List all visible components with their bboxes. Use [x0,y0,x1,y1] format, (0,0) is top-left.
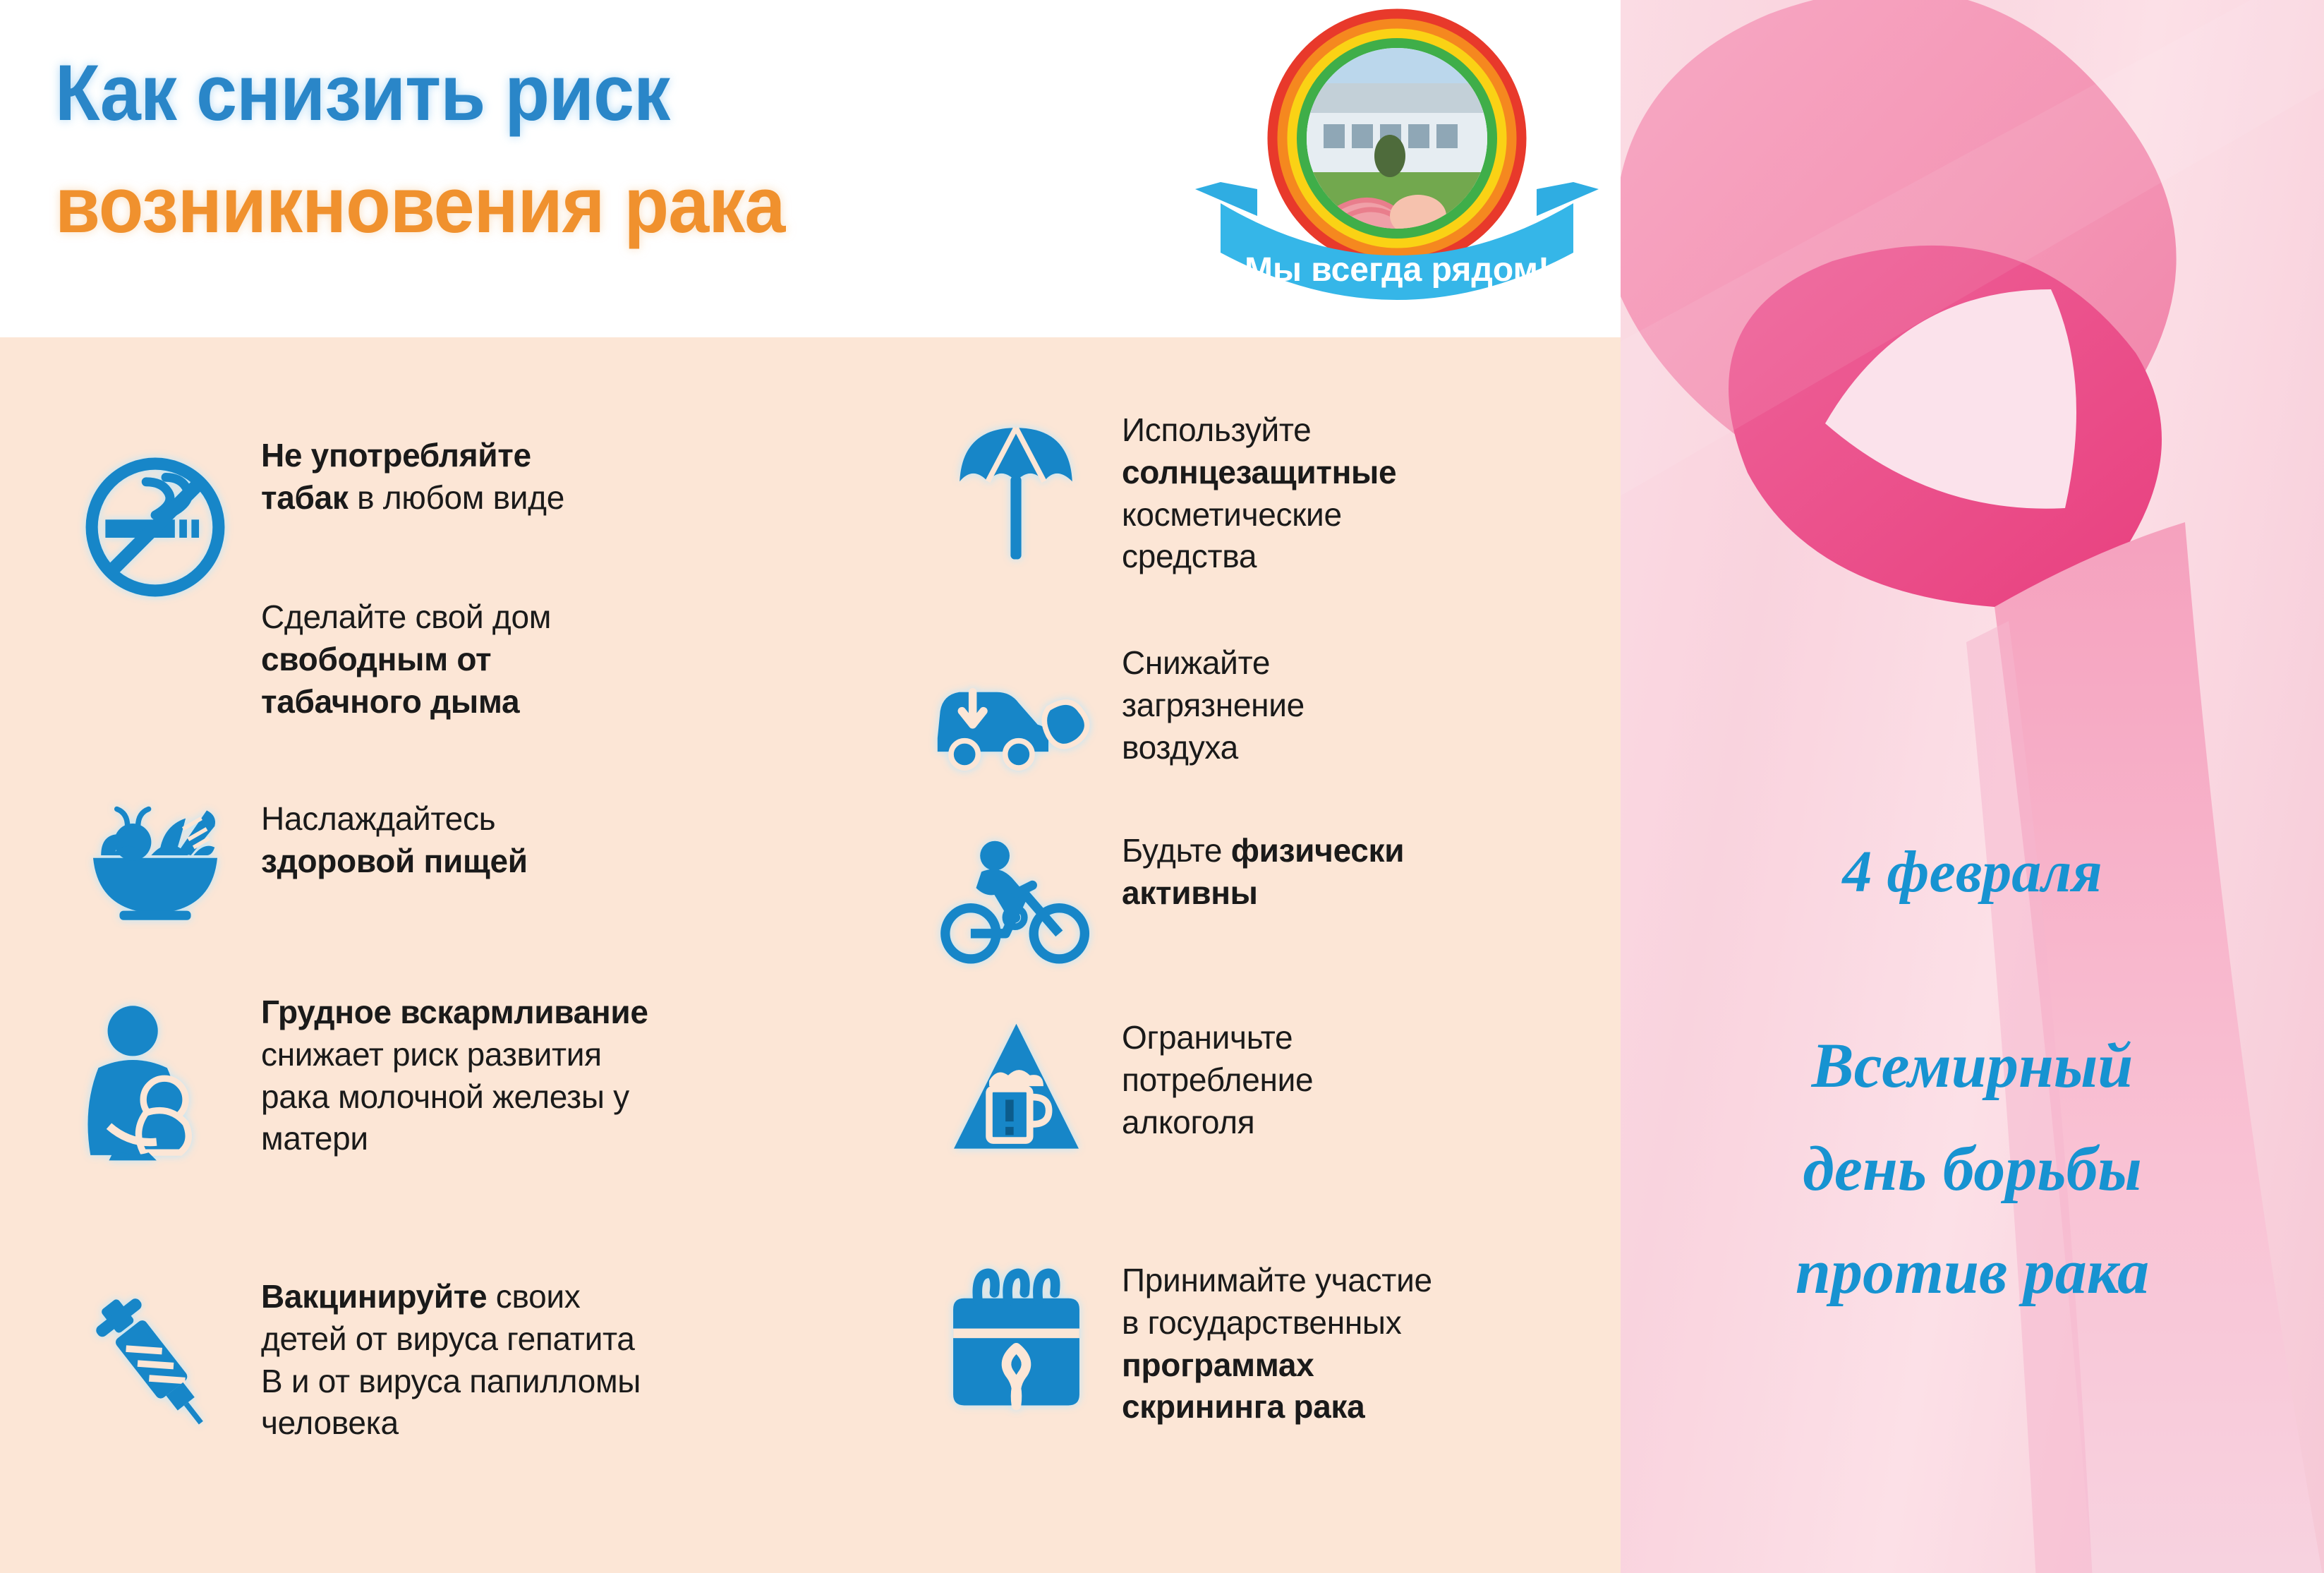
tip-line-normal: снижает риск развития [261,1036,602,1073]
tip-line-normal: потребление [1122,1061,1313,1098]
no-smoking-icon [49,430,261,603]
tip-text: Используйте солнцезащитные косметические… [1122,409,1616,578]
tip-limit-alcohol: Ограничьте потребление алкоголя [910,1013,1616,1159]
tip-line-bold: физически [1231,832,1405,869]
tip-line-normal: Используйте [1122,411,1311,448]
rainbow-building-logo: Мы всегда рядом! [1192,4,1602,320]
tip-vaccination: Вакцинируйте своих детей от вируса гепат… [49,1270,882,1445]
syringe-vaccine-icon [49,1270,261,1441]
tip-line-normal: воздуха [1122,729,1238,766]
poster-root: Как снизить риск возникновения рака [0,0,2324,1573]
content-panel: Как снизить риск возникновения рака [0,0,1621,1573]
tip-no-tobacco: Не употребляйте табак в любом виде [49,430,882,603]
tip-text: Будьте физически активны [1122,826,1616,915]
beach-umbrella-icon [910,409,1122,568]
healthy-food-bowl-icon [49,780,261,922]
tip-breastfeeding: Грудное вскармливание снижает риск разви… [49,992,882,1162]
headline-line-2: день борьбы [1621,1118,2324,1221]
cyclist-icon [910,826,1122,971]
tip-text: Наслаждайтесь здоровой пищей [261,780,868,883]
tip-text: Не употребляйте табак в любом виде [261,430,868,519]
date-line: 4 февраля [1621,840,2324,905]
tip-line-bold: свободным от [261,641,491,677]
tip-line-bold: Вакцинируйте [261,1278,487,1315]
pink-awareness-ribbon [1621,0,2324,1573]
tip-line-normal: алкоголя [1122,1104,1254,1140]
tip-line-bold: Грудное вскармливание [261,994,648,1030]
tip-line-bold: программах [1122,1346,1314,1383]
tip-line-normal: своих [487,1278,580,1315]
tip-line-bold: скрининга рака [1122,1388,1364,1425]
tip-line-normal: косметические [1122,496,1342,533]
page-title: Как снизить риск возникновения рака [55,37,1156,261]
tip-line-normal: рака молочной железы у [261,1078,629,1115]
alcohol-warning-icon [910,1013,1122,1159]
tip-line-normal: в любом виде [349,479,564,516]
car-exhaust-pollution-icon [910,642,1122,773]
tip-line-normal: Будьте [1122,832,1231,869]
tip-line-normal: в государственных [1122,1304,1401,1341]
tip-text: Вакцинируйте своих детей от вируса гепат… [261,1270,882,1445]
tip-line-normal: детей от вируса гепатита [261,1320,635,1357]
tip-line-normal: Принимайте участие [1122,1262,1432,1298]
logo-banner-text: Мы всегда рядом! [1245,251,1549,289]
headline-line-3: против рака [1621,1221,2324,1324]
tip-line-bold: солнцезащитные [1122,454,1396,490]
tip-line-normal: Ограничьте [1122,1019,1293,1056]
tip-healthy-food: Наслаждайтесь здоровой пищей [49,780,882,922]
tip-line-normal: B и от вируса папилломы [261,1363,641,1399]
tip-line-normal: Наслаждайтесь [261,800,495,837]
headline-line-1: Всемирный [1621,1015,2324,1118]
tip-line-normal: Снижайте [1122,644,1270,681]
tip-line-normal: загрязнение [1122,687,1305,723]
tip-text: Принимайте участие в государственных про… [1122,1260,1616,1428]
tip-cancer-screening: Принимайте участие в государственных про… [910,1260,1616,1428]
tip-text: Ограничьте потребление алкоголя [1122,1013,1616,1143]
tip-text: Сделайте свой дом свободным от табачного… [261,596,868,723]
tip-line-bold: активны [1122,874,1258,911]
pink-ribbon-panel: 4 февраля Всемирный день борьбы против р… [1621,0,2324,1573]
pink-panel-text: 4 февраля Всемирный день борьбы против р… [1621,840,2324,1324]
tip-text: Снижайте загрязнение воздуха [1122,642,1616,769]
tip-sunscreen: Используйте солнцезащитные косметические… [910,409,1616,578]
tip-line-normal: матери [261,1120,368,1157]
tip-line-bold: табак [261,479,349,516]
tip-line-bold: Не употребляйте [261,437,531,474]
tips-columns: Не употребляйте табак в любом виде Сдела… [0,353,1621,1553]
calendar-screening-icon [910,1260,1122,1416]
title-line-2: возникновения рака [55,149,1079,261]
tip-physical-activity: Будьте физически активны [910,826,1616,971]
tip-line-bold: здоровой пищей [261,843,528,879]
tip-line-normal: средства [1122,538,1257,574]
tip-smoke-free-home: Сделайте свой дом свободным от табачного… [261,596,882,723]
tip-line-bold: табачного дыма [261,683,519,720]
tip-air-pollution: Снижайте загрязнение воздуха [910,642,1616,773]
title-line-1: Как снизить риск [55,37,1079,149]
tip-line-normal: человека [261,1404,399,1441]
tip-line-normal: Сделайте свой дом [261,598,551,635]
breastfeeding-icon [49,992,261,1162]
tip-text: Грудное вскармливание снижает риск разви… [261,992,882,1160]
